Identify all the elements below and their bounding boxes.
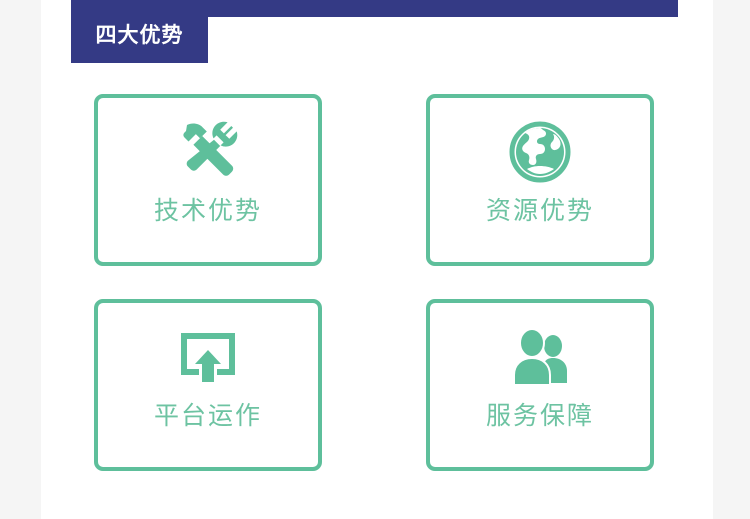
advantage-card-label: 服务保障 bbox=[486, 403, 594, 428]
advantage-card-grid: 技术优势 资源优势 bbox=[94, 94, 708, 472]
advantage-card-label: 平台运作 bbox=[154, 403, 262, 428]
two-people-icon bbox=[506, 324, 574, 390]
advantage-card-technology[interactable]: 技术优势 bbox=[94, 94, 322, 266]
section-title-tab: 四大优势 bbox=[71, 0, 208, 63]
browser-upload-icon bbox=[174, 324, 242, 390]
advantage-card-label: 资源优势 bbox=[486, 198, 594, 223]
advantage-card-service[interactable]: 服务保障 bbox=[426, 299, 654, 471]
section-title: 四大优势 bbox=[96, 17, 184, 46]
advantage-card-label: 技术优势 bbox=[154, 198, 262, 223]
advantage-card-resources[interactable]: 资源优势 bbox=[426, 94, 654, 266]
hammer-wrench-icon bbox=[174, 119, 242, 185]
advantage-card-platform[interactable]: 平台运作 bbox=[94, 299, 322, 471]
globe-icon bbox=[506, 119, 574, 185]
content-panel: 四大优势 技术优势 bbox=[41, 0, 713, 519]
page-root: 四大优势 技术优势 bbox=[0, 0, 750, 519]
